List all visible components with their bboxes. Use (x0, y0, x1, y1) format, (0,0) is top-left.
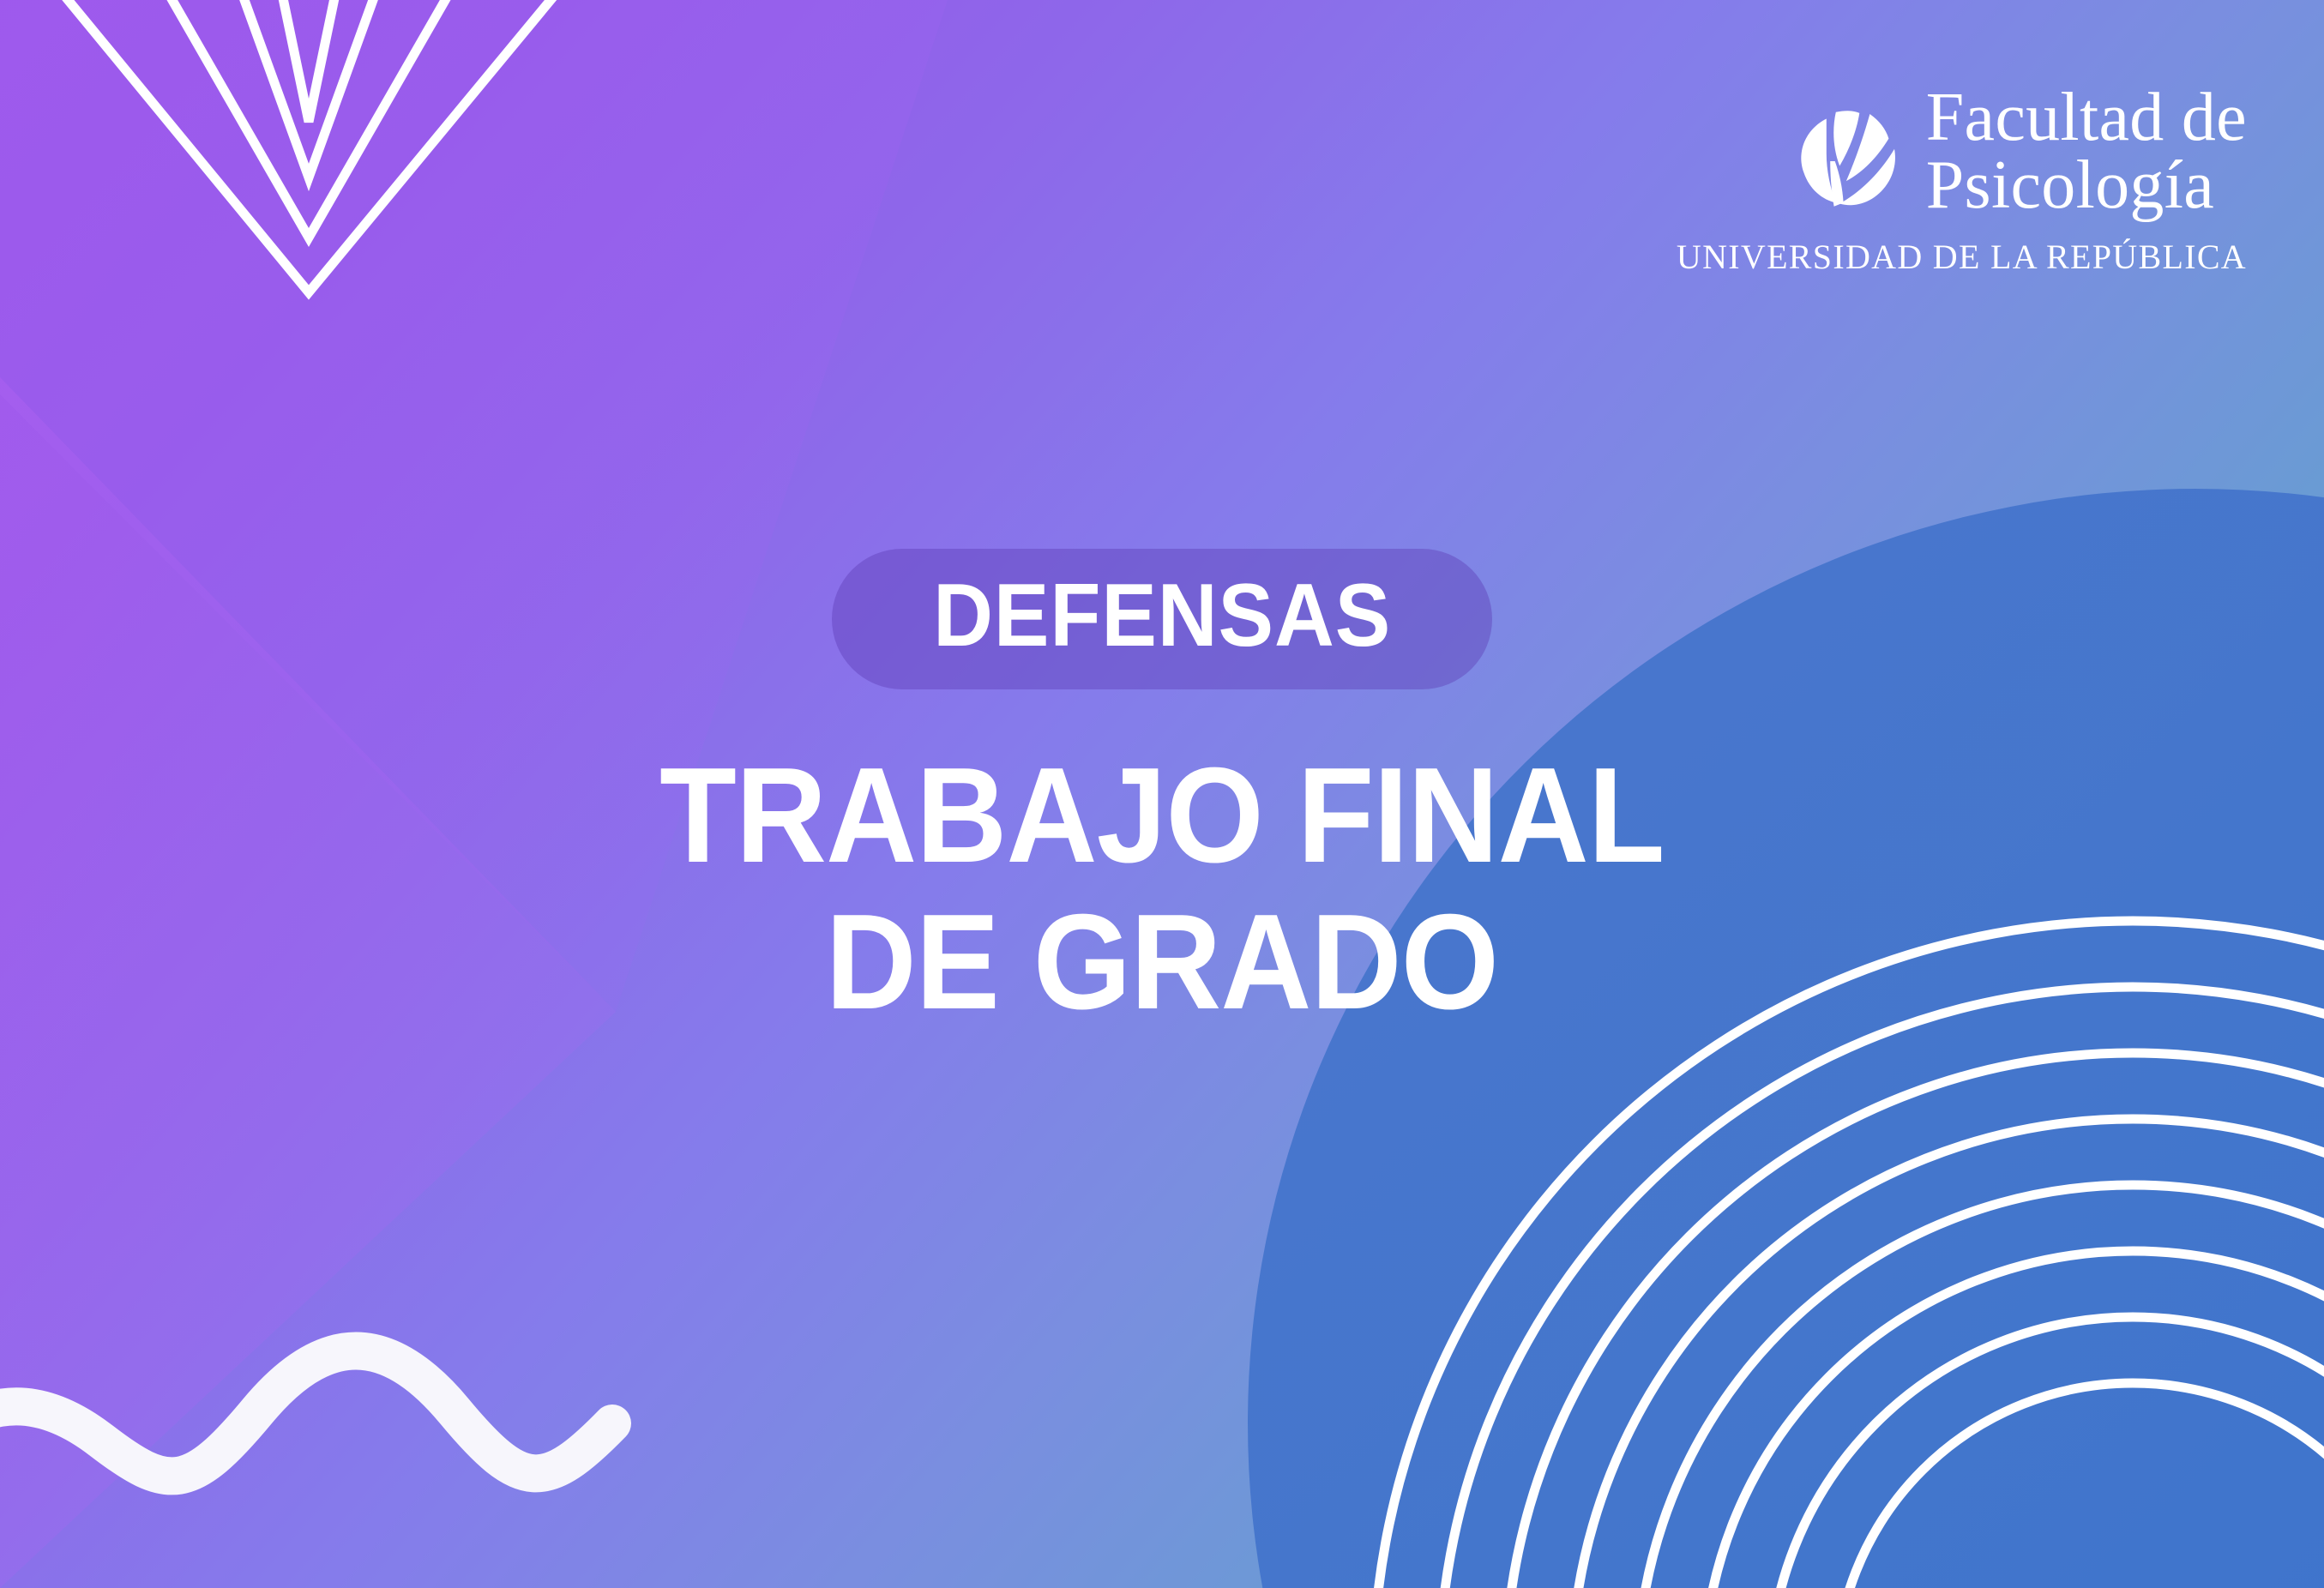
page-title: TRABAJO FINAL DE GRADO (622, 743, 1702, 1035)
defensas-badge: DEFENSAS (832, 549, 1492, 689)
logo-line-2: Psicología (1926, 152, 2247, 220)
logo-university-subtitle: UNIVERSIDAD DE LA REPÚBLICA (1677, 237, 2247, 277)
page-title-line-1: TRABAJO FINAL (659, 743, 1665, 889)
logo-line-1: Facultad de (1926, 84, 2247, 152)
logo-row: Facultad de Psicología (1791, 84, 2247, 220)
slide-canvas: Facultad de Psicología UNIVERSIDAD DE LA… (0, 0, 2324, 1588)
title-block: DEFENSAS TRABAJO FINAL DE GRADO (0, 549, 2324, 1035)
faculty-logo-lockup: Facultad de Psicología UNIVERSIDAD DE LA… (1677, 84, 2247, 277)
logo-wordmark: Facultad de Psicología (1926, 84, 2247, 220)
psi-petals-logo-icon (1791, 95, 1904, 208)
defensas-badge-label: DEFENSAS (933, 571, 1391, 660)
page-title-line-2: DE GRADO (659, 889, 1665, 1036)
